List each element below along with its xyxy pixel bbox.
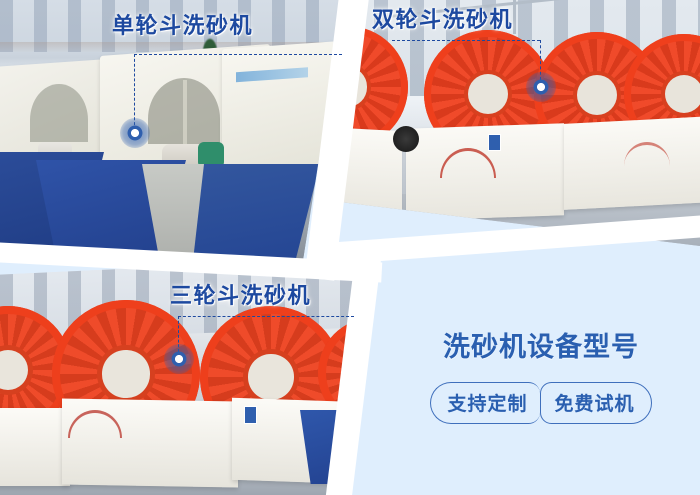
callout-label-triple-wheel: 三轮斗洗砂机 [170, 278, 311, 310]
callout-label-double-wheel: 双轮斗洗砂机 [372, 2, 513, 34]
callout-label-single-wheel: 单轮斗洗砂机 [112, 8, 253, 40]
panel-info: 洗砂机设备型号 支持定制 免费试机 [356, 254, 700, 495]
blue-hopper-3 [142, 164, 320, 262]
hotspot-marker-icon[interactable] [526, 72, 556, 102]
callout-triple-wheel: 三轮斗洗砂机 [170, 278, 311, 310]
drive-motor [393, 126, 419, 152]
promo-banner: 洗砂机设备型号 支持定制 免费试机 单轮斗洗砂机 双轮斗洗砂机 三轮斗洗砂机 [0, 0, 700, 495]
nameplate [244, 406, 257, 424]
callout-dash-horizontal [178, 316, 354, 317]
pill-free-trial[interactable]: 免费试机 [540, 382, 652, 424]
panel-double-wheel-photo[interactable] [338, 0, 700, 246]
crane-mast [513, 0, 516, 34]
pill-support-customization[interactable]: 支持定制 [430, 382, 539, 424]
callout-dash-horizontal [134, 54, 342, 55]
callout-dash-horizontal [392, 40, 540, 41]
callout-single-wheel: 单轮斗洗砂机 [112, 8, 253, 40]
callout-double-wheel: 双轮斗洗砂机 [372, 2, 513, 34]
hotspot-marker-icon[interactable] [120, 118, 150, 148]
info-pill-group: 支持定制 免费试机 [430, 382, 651, 424]
white-tank-1 [0, 408, 70, 486]
hotspot-marker-icon[interactable] [164, 344, 194, 374]
info-title: 洗砂机设备型号 [443, 325, 639, 364]
nameplate [488, 134, 501, 151]
